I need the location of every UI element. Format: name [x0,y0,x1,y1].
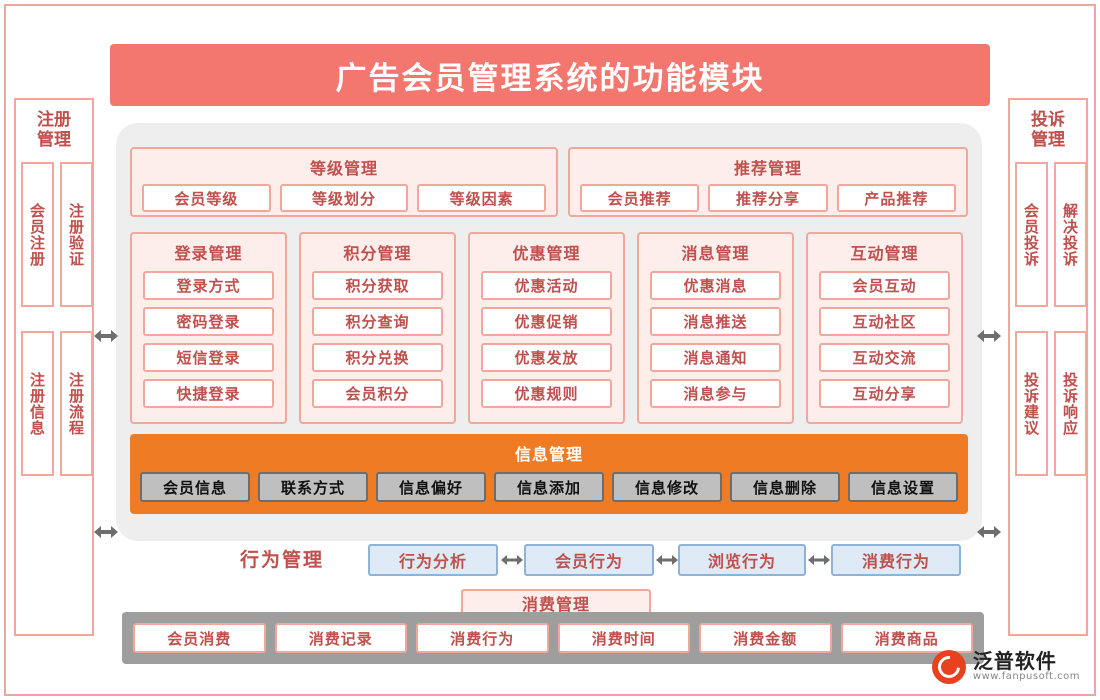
arrow-right-lower-icon [975,522,1003,542]
panel-complaint-title: 投诉管理 [1010,100,1086,162]
group-interaction-management: 互动管理 会员互动 互动社区 互动交流 互动分享 [806,232,963,424]
diagram-frame: 广告会员管理系统的功能模块 注册管理 会员注册 注册验证 注册信息 注册流程 投… [4,4,1096,696]
cell-info-settings[interactable]: 信息设置 [848,472,958,502]
cell-member-interaction[interactable]: 会员互动 [819,271,950,300]
cell-info-add[interactable]: 信息添加 [494,472,604,502]
cell-interaction-community[interactable]: 互动社区 [819,307,950,336]
registration-cell-register-flow[interactable]: 注册流程 [60,331,93,476]
cell-sms-login[interactable]: 短信登录 [143,343,274,372]
cell-member-points[interactable]: 会员积分 [312,379,443,408]
complaint-cell-complaint-suggestion[interactable]: 投诉建议 [1015,331,1048,476]
registration-group-1: 会员注册 注册验证 [16,162,92,307]
cell-level-division[interactable]: 等级划分 [280,184,409,212]
registration-cell-member-register[interactable]: 会员注册 [21,162,54,307]
cell-info-delete[interactable]: 信息删除 [730,472,840,502]
cell-member-recommend[interactable]: 会员推荐 [580,184,699,212]
group-message-management: 消息管理 优惠消息 消息推送 消息通知 消息参与 [637,232,794,424]
logo-url: www.fanpusoft.com [973,672,1080,683]
cell-browse-behavior[interactable]: 浏览行为 [678,544,806,576]
group-level-management: 等级管理 会员等级 等级划分 等级因素 [130,147,558,217]
page-title: 广告会员管理系统的功能模块 [110,44,990,106]
group-login-title: 登录管理 [132,234,285,264]
logo-name: 泛普软件 [973,651,1080,672]
registration-cell-register-info[interactable]: 注册信息 [21,331,54,476]
complaint-group-2: 投诉建议 投诉响应 [1010,331,1086,476]
group-points-title: 积分管理 [301,234,454,264]
arrow-left-upper-icon [92,326,120,346]
cell-member-info[interactable]: 会员信息 [140,472,250,502]
cell-info-preference[interactable]: 信息偏好 [376,472,486,502]
cell-login-method[interactable]: 登录方式 [143,271,274,300]
cell-interaction-exchange[interactable]: 互动交流 [819,343,950,372]
group-information-management: 信息管理 会员信息 联系方式 信息偏好 信息添加 信息修改 信息删除 信息设置 [130,434,968,514]
cell-points-query[interactable]: 积分查询 [312,307,443,336]
group-information-title: 信息管理 [130,434,968,465]
cell-message-notify[interactable]: 消息通知 [650,343,781,372]
arrow-left-lower-icon [92,522,120,542]
group-points-management: 积分管理 积分获取 积分查询 积分兑换 会员积分 [299,232,456,424]
cell-behavior-analysis[interactable]: 行为分析 [368,544,498,576]
cell-recommend-share[interactable]: 推荐分享 [708,184,827,212]
arrow-behavior-2-icon [655,550,679,570]
group-interaction-title: 互动管理 [808,234,961,264]
cell-discount-issue[interactable]: 优惠发放 [481,343,612,372]
cell-info-edit[interactable]: 信息修改 [612,472,722,502]
complaint-cell-complaint-response[interactable]: 投诉响应 [1054,331,1087,476]
behavior-management-label: 行为管理 [202,542,362,574]
cell-points-exchange[interactable]: 积分兑换 [312,343,443,372]
cell-consume-time[interactable]: 消费时间 [558,623,691,653]
arrow-behavior-3-icon [807,550,831,570]
cell-consume-amount[interactable]: 消费金额 [699,623,832,653]
group-discount-title: 优惠管理 [470,234,623,264]
cell-discount-message[interactable]: 优惠消息 [650,271,781,300]
cell-member-level[interactable]: 会员等级 [142,184,271,212]
cell-message-participate[interactable]: 消息参与 [650,379,781,408]
group-login-management: 登录管理 登录方式 密码登录 短信登录 快捷登录 [130,232,287,424]
registration-group-2: 注册信息 注册流程 [16,331,92,476]
cell-discount-promotion[interactable]: 优惠促销 [481,307,612,336]
panel-registration-management: 注册管理 会员注册 注册验证 注册信息 注册流程 [14,98,94,636]
cell-message-push[interactable]: 消息推送 [650,307,781,336]
registration-cell-register-verify[interactable]: 注册验证 [60,162,93,307]
cell-consume-behavior[interactable]: 消费行为 [831,544,961,576]
brand-logo: 泛普软件 www.fanpusoft.com [932,650,1080,684]
complaint-cell-member-complaint[interactable]: 会员投诉 [1015,162,1048,307]
cell-member-consume[interactable]: 会员消费 [133,623,266,653]
complaint-group-1: 会员投诉 解决投诉 [1010,162,1086,307]
main-module-panel: 等级管理 会员等级 等级划分 等级因素 推荐管理 会员推荐 推荐分享 产品推荐 … [116,123,982,541]
cell-level-factor[interactable]: 等级因素 [417,184,546,212]
arrow-behavior-1-icon [500,550,524,570]
cell-interaction-share[interactable]: 互动分享 [819,379,950,408]
panel-complaint-management: 投诉管理 会员投诉 解决投诉 投诉建议 投诉响应 [1008,98,1088,636]
arrow-right-upper-icon [975,326,1003,346]
panel-registration-title: 注册管理 [16,100,92,162]
group-discount-management: 优惠管理 优惠活动 优惠促销 优惠发放 优惠规则 [468,232,625,424]
cell-consume-product[interactable]: 消费商品 [841,623,974,653]
cell-contact-method[interactable]: 联系方式 [258,472,368,502]
complaint-cell-resolve-complaint[interactable]: 解决投诉 [1054,162,1087,307]
cell-discount-rule[interactable]: 优惠规则 [481,379,612,408]
group-consume-management: 会员消费 消费记录 消费行为 消费时间 消费金额 消费商品 [122,612,984,664]
cell-member-behavior[interactable]: 会员行为 [524,544,654,576]
cell-consume-behavior-item[interactable]: 消费行为 [416,623,549,653]
group-level-title: 等级管理 [132,149,556,179]
cell-points-earn[interactable]: 积分获取 [312,271,443,300]
group-recommendation-title: 推荐管理 [570,149,966,179]
cell-quick-login[interactable]: 快捷登录 [143,379,274,408]
cell-discount-activity[interactable]: 优惠活动 [481,271,612,300]
group-message-title: 消息管理 [639,234,792,264]
cell-password-login[interactable]: 密码登录 [143,307,274,336]
cell-product-recommend[interactable]: 产品推荐 [837,184,956,212]
logo-mark-icon [932,650,966,684]
cell-consume-record[interactable]: 消费记录 [275,623,408,653]
group-recommendation-management: 推荐管理 会员推荐 推荐分享 产品推荐 [568,147,968,217]
